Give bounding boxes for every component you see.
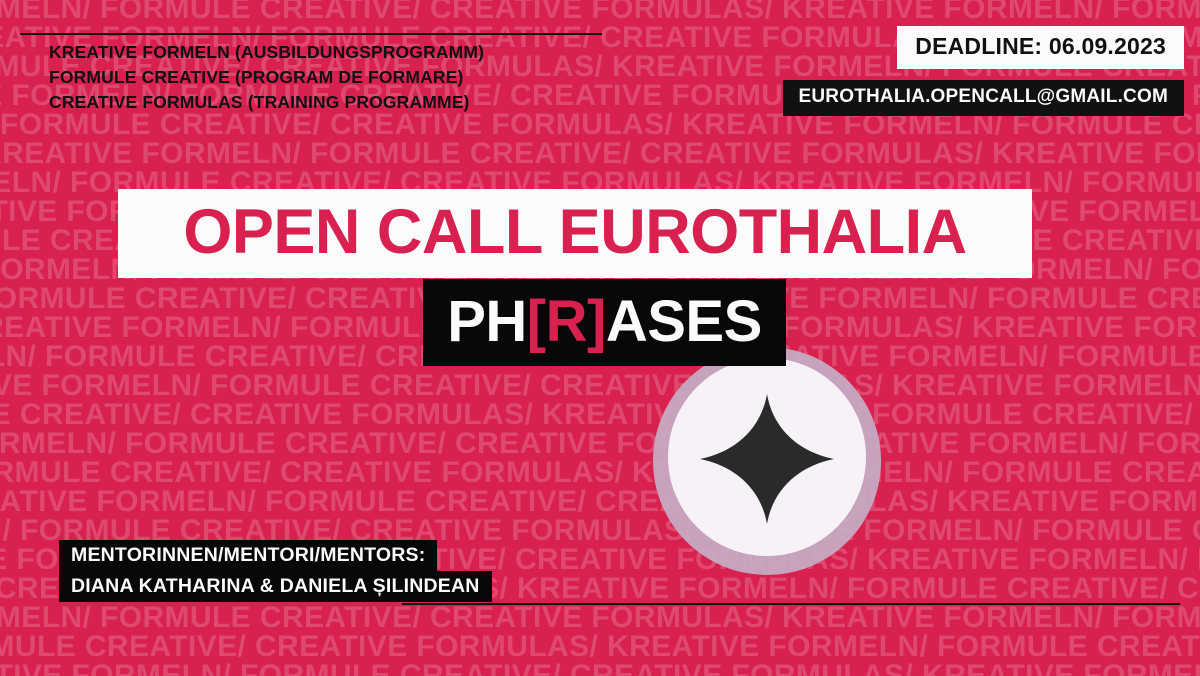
background-text-row: KREATIVE FORMELN/ FORMULE CREATIVE/ CREA…: [0, 603, 1200, 632]
top-divider-rule: [20, 33, 602, 35]
subtitle-suffix: ASES: [606, 289, 762, 354]
programme-title-de: KREATIVE FORMELN (AUSBILDUNGSPROGRAMM): [49, 40, 484, 65]
background-text-row: KREATIVE FORMELN/ FORMULE CREATIVE/ CREA…: [0, 139, 1200, 168]
mentors-names: DIANA KATHARINA & DANIELA ȘILINDEAN: [59, 571, 492, 602]
background-text-row: KREATIVE FORMELN/ FORMULE CREATIVE/ CREA…: [0, 400, 1200, 429]
mentors-label: MENTORINNEN/MENTORI/MENTORS:: [59, 540, 437, 571]
subtitle-band: PH[R]ASES: [423, 279, 786, 366]
sparkle-circle-emblem: [651, 345, 883, 577]
background-text-row: KREATIVE FORMELN/ FORMULE CREATIVE/ CREA…: [0, 632, 1200, 661]
contact-email-badge[interactable]: EUROTHALIA.OPENCALL@GMAIL.COM: [783, 80, 1184, 116]
open-call-poster: KREATIVE FORMELN/ FORMULE CREATIVE/ CREA…: [0, 0, 1200, 676]
background-text-row: KREATIVE FORMELN/ FORMULE CREATIVE/ CREA…: [0, 371, 1200, 400]
main-title-band: OPEN CALL EUROTHALIA: [118, 189, 1032, 278]
background-text-row: KREATIVE FORMELN/ FORMULE CREATIVE/ CREA…: [0, 0, 1200, 23]
background-text-row: KREATIVE FORMELN/ FORMULE CREATIVE/ CREA…: [0, 429, 1200, 458]
subtitle-bracket: [R]: [527, 289, 606, 354]
page-title: OPEN CALL EUROTHALIA: [183, 201, 966, 264]
programme-titles: KREATIVE FORMELN (AUSBILDUNGSPROGRAMM) F…: [49, 40, 484, 115]
background-text-row: KREATIVE FORMELN/ FORMULE CREATIVE/ CREA…: [0, 661, 1200, 676]
subtitle-text: PH[R]ASES: [447, 293, 762, 351]
background-text-row: KREATIVE FORMELN/ FORMULE CREATIVE/ CREA…: [0, 487, 1200, 516]
deadline-badge: DEADLINE: 06.09.2023: [897, 26, 1184, 69]
background-text-row: KREATIVE FORMELN/ FORMULE CREATIVE/ CREA…: [0, 458, 1200, 487]
programme-title-en: CREATIVE FORMULAS (TRAINING PROGRAMME): [49, 90, 484, 115]
mentors-block: MENTORINNEN/MENTORI/MENTORS: DIANA KATHA…: [59, 540, 492, 602]
programme-title-ro: FORMULE CREATIVE (PROGRAM DE FORMARE): [49, 65, 484, 90]
bottom-divider-rule: [402, 603, 1180, 605]
subtitle-prefix: PH: [447, 289, 527, 354]
